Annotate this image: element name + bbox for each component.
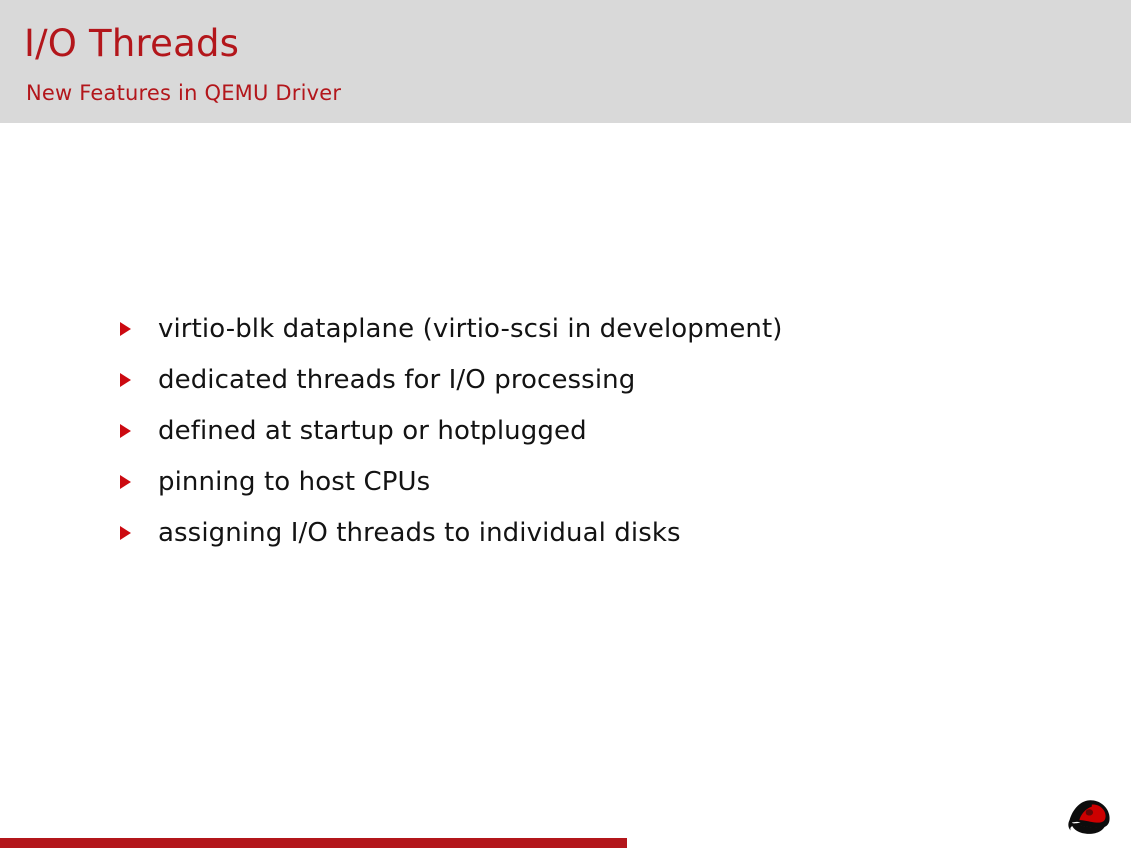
page-subtitle: New Features in QEMU Driver	[26, 80, 341, 106]
page-title: I/O Threads	[24, 22, 239, 66]
list-item-label: defined at startup or hotplugged	[158, 415, 587, 447]
logo-red-figure-detail	[1086, 809, 1093, 815]
triangle-bullet-icon	[120, 526, 131, 540]
triangle-bullet-icon	[120, 373, 131, 387]
list-item-label: virtio-blk dataplane (virtio-scsi in dev…	[158, 313, 783, 345]
list-item-label: assigning I/O threads to individual disk…	[158, 517, 681, 549]
list-item: dedicated threads for I/O processing	[118, 354, 1068, 405]
slide-progress-track	[0, 838, 1131, 848]
list-item-label: dedicated threads for I/O processing	[158, 364, 635, 396]
triangle-bullet-icon	[120, 322, 131, 336]
triangle-bullet-icon	[120, 475, 131, 489]
list-item-label: pinning to host CPUs	[158, 466, 430, 498]
list-item: assigning I/O threads to individual disk…	[118, 507, 1068, 558]
bullet-list: virtio-blk dataplane (virtio-scsi in dev…	[118, 303, 1068, 558]
list-item: defined at startup or hotplugged	[118, 405, 1068, 456]
red-hat-shadowman-logo	[1066, 798, 1114, 838]
slide-progress-bar	[0, 838, 627, 848]
list-item: pinning to host CPUs	[118, 456, 1068, 507]
list-item: virtio-blk dataplane (virtio-scsi in dev…	[118, 303, 1068, 354]
presentation-slide: I/O Threads New Features in QEMU Driver …	[0, 0, 1131, 848]
triangle-bullet-icon	[120, 424, 131, 438]
